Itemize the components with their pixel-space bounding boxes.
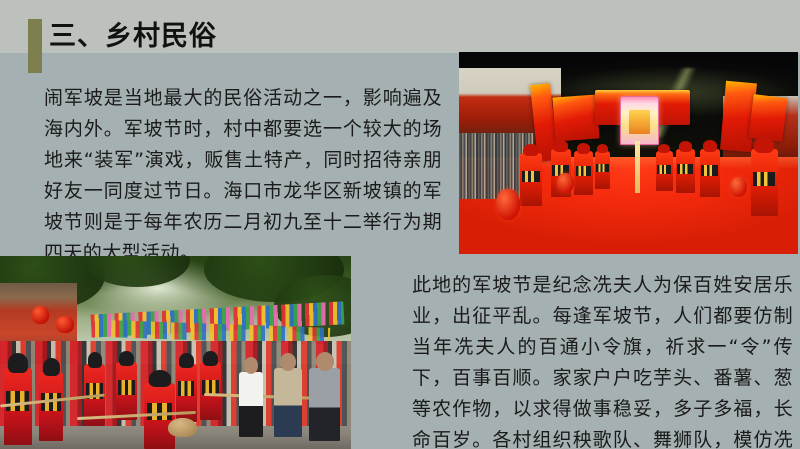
paragraph-detail: 此地的军坡节是纪念冼夫人为保百姓安居乐业，出征平乱。每逢军坡节，人们都要仿制当年… — [412, 270, 793, 449]
costumed-performer — [200, 362, 221, 420]
red-lantern — [56, 316, 74, 333]
onlooker — [274, 368, 302, 437]
costumed-performer — [751, 149, 778, 216]
costumed-performer — [676, 149, 695, 193]
onlooker — [309, 368, 341, 441]
image-parade-night — [459, 52, 798, 254]
festival-palanquin — [620, 96, 659, 144]
red-drum — [496, 189, 520, 219]
red-drum — [730, 177, 747, 197]
bamboo-basket — [168, 418, 196, 437]
palanquin-pole — [635, 141, 640, 194]
costumed-performer — [116, 362, 137, 420]
costumed-performer — [700, 149, 720, 197]
costumed-performer — [39, 372, 64, 441]
costumed-performer — [574, 151, 593, 195]
image-parade-day — [0, 256, 351, 449]
onlooker — [239, 372, 264, 438]
slide-canvas: 三、乡村民俗 闹军坡是当地最大的民俗活动之一，影响遍及海内外。军坡节时，村中都要… — [0, 0, 800, 449]
costumed-performer — [656, 151, 673, 191]
page-title: 三、乡村民俗 — [49, 20, 217, 54]
costumed-performer — [520, 153, 542, 206]
title-accent-bar — [28, 19, 42, 73]
banner-flag — [552, 95, 599, 142]
banner-flag — [748, 95, 787, 143]
paragraph-intro: 闹军坡是当地最大的民俗活动之一，影响遍及海内外。军坡节时，村中都要选一个较大的场… — [44, 83, 442, 269]
red-lantern — [32, 306, 50, 323]
costumed-performer — [595, 151, 610, 189]
